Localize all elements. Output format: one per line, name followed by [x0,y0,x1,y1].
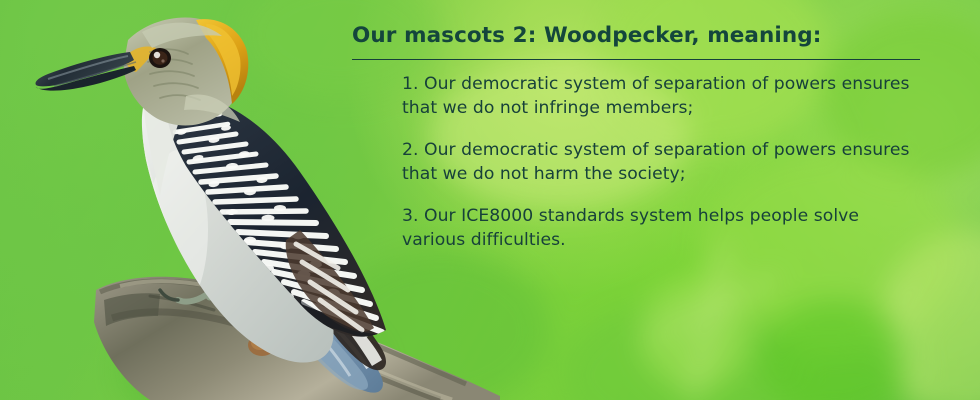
woodpecker-banner: Our mascots 2: Woodpecker, meaning: 1. O… [0,0,980,400]
page-title: Our mascots 2: Woodpecker, meaning: [352,22,924,50]
list-item: 2. Our democratic system of separation o… [402,139,922,186]
list-item: 1. Our democratic system of separation o… [402,73,922,120]
mascot-meaning-list: 1. Our democratic system of separation o… [402,73,924,252]
text-panel: Our mascots 2: Woodpecker, meaning: 1. O… [352,22,924,252]
title-divider [352,59,920,60]
woodpecker-beak [36,52,137,91]
list-item: 3. Our ICE8000 standards system helps pe… [402,205,922,252]
